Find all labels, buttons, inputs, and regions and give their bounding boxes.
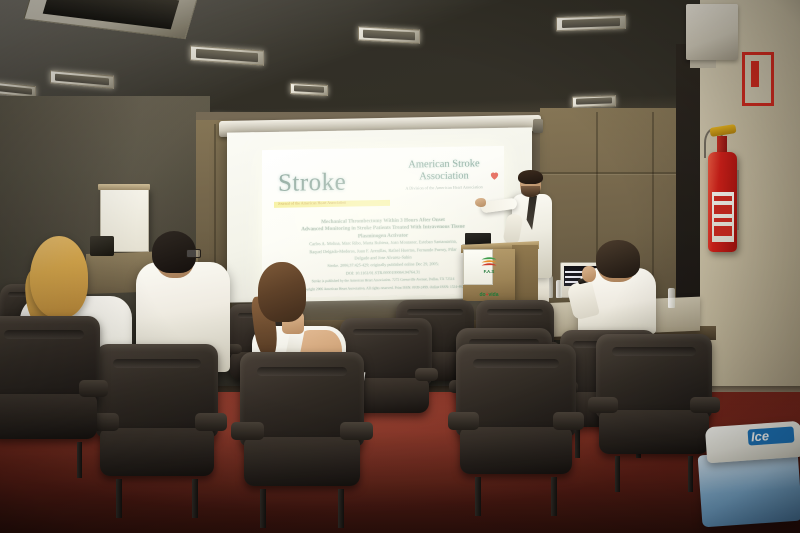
slogan-right: vida [489, 292, 499, 298]
ceiling-light-icon [290, 83, 328, 96]
bottle [556, 280, 562, 298]
chair-leg [688, 456, 694, 491]
heart-icon [489, 170, 500, 181]
attendee-hand [582, 266, 596, 282]
chair [456, 344, 576, 492]
attendee-hair [30, 236, 88, 318]
chair-armrest [448, 412, 479, 430]
chair-armrest [195, 413, 227, 431]
chair [596, 334, 712, 470]
equipment-box [90, 236, 114, 256]
extinguisher-label [712, 192, 734, 242]
chair-leg [192, 479, 198, 518]
chair-armrest [588, 397, 618, 413]
chair-leg [77, 442, 83, 478]
chair-seat [599, 410, 708, 454]
bottle [668, 288, 675, 308]
chair-seat [244, 437, 361, 486]
attendee-hair [596, 240, 640, 278]
chair-leg [116, 479, 122, 518]
podium-poster: F.A.S [463, 249, 493, 285]
fas-logo-icon [480, 256, 498, 270]
chair-armrest [79, 380, 108, 397]
podium-slogan: do+vida [465, 292, 513, 298]
slide-accent-bar: Journal of the American Heart Associatio… [274, 200, 390, 208]
chair-leg [615, 456, 621, 491]
ceiling-light-icon [572, 95, 616, 108]
podium: F.A.S do+vida [463, 249, 515, 301]
chair [96, 344, 218, 494]
presenter-beard [521, 186, 540, 197]
chair-leg [551, 477, 557, 515]
chair-armrest [415, 368, 439, 381]
chair-seat [100, 428, 215, 476]
chair [240, 352, 364, 504]
cooler-brand-text: Ice [750, 428, 769, 444]
chair [0, 316, 100, 456]
podium-side [512, 245, 538, 303]
chair-leg [475, 477, 481, 515]
ceiling-light-icon [556, 15, 626, 31]
flipchart-clamp [98, 184, 150, 190]
presenter-hair [518, 170, 543, 184]
chair-seat [0, 394, 97, 439]
wall-speaker-box [686, 4, 738, 60]
fire-equipment-sign-icon [742, 52, 774, 106]
attendee-hair [258, 262, 306, 322]
chair-leg [260, 489, 266, 529]
fas-logo-text: F.A.S [463, 269, 515, 274]
chair-seat [460, 427, 573, 474]
chair-armrest [553, 412, 584, 430]
chair-armrest [231, 422, 263, 440]
slide-subtitle-bar-text: Journal of the American Heart Associatio… [278, 200, 346, 206]
conference-room-photo: Stroke Journal of the American Heart Ass… [0, 0, 800, 533]
chair-leg [575, 429, 580, 458]
cooler-brand-label: Ice [747, 426, 794, 445]
asa-line-2: Association [390, 170, 498, 184]
projector-screen-mount [533, 119, 543, 133]
asa-logo-block: American Stroke Association A Division o… [390, 158, 498, 192]
chair-armrest [340, 422, 372, 440]
chair-leg [338, 489, 344, 529]
chair-armrest [690, 397, 720, 413]
asa-sub-line: A Division of the American Heart Associa… [390, 184, 498, 192]
glasses-icon [186, 249, 201, 258]
presenter-pointing-hand [475, 198, 486, 207]
slide-title: Stroke [278, 169, 346, 198]
